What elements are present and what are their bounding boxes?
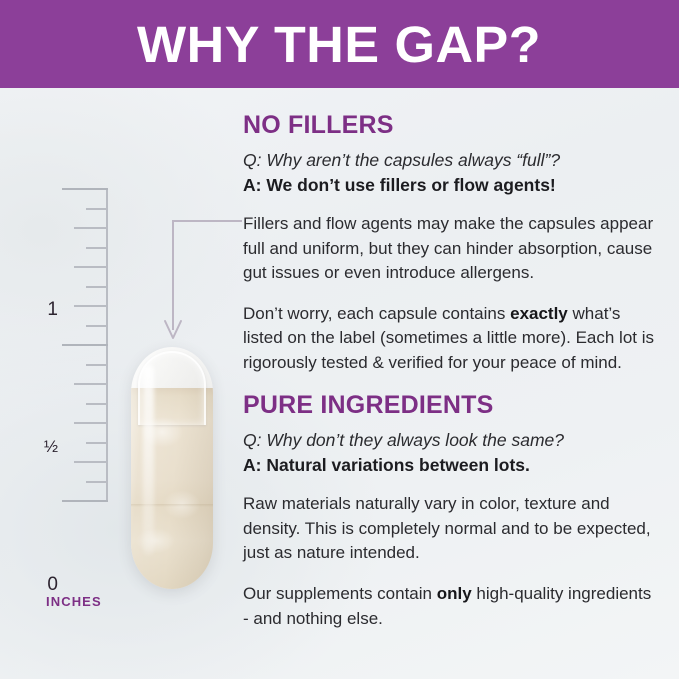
capsule-shell — [131, 347, 213, 589]
paragraph-text: Fillers and flow agents may make the cap… — [243, 214, 653, 282]
ruler-tick — [86, 286, 108, 288]
ruler-unit-label: INCHES — [46, 594, 102, 609]
capsule-illustration-panel: 1 ½ 0 INCHES — [0, 88, 238, 679]
paragraph-text: Our supplements contain — [243, 584, 437, 603]
ruler-label-zero: 0 — [18, 575, 58, 594]
ruler-tick — [86, 325, 108, 327]
page-title: WHY THE GAP? — [137, 19, 541, 70]
paragraph-text: Raw materials naturally vary in color, t… — [243, 494, 651, 562]
ruler-tick — [62, 344, 108, 346]
section-heading: PURE INGREDIENTS — [243, 392, 657, 420]
ruler-tick — [74, 305, 108, 307]
ruler-tick — [74, 227, 108, 229]
body-paragraph: Our supplements contain only high-qualit… — [243, 582, 657, 631]
ruler-tick — [74, 266, 108, 268]
emphasis-text: only — [437, 584, 472, 603]
callout-arrow-icon — [162, 214, 244, 346]
emphasis-text: exactly — [510, 304, 568, 323]
capsule-image — [131, 347, 213, 589]
ruler-tick — [86, 403, 108, 405]
ruler-tick — [86, 208, 108, 210]
ruler-tick — [74, 422, 108, 424]
faq-question: Q: Why don’t they always look the same? — [243, 429, 657, 451]
paragraph-text: Don’t worry, each capsule contains — [243, 304, 510, 323]
faq-question: Q: Why aren’t the capsules always “full”… — [243, 149, 657, 171]
ruler-tick — [86, 247, 108, 249]
ruler-label-one: 1 — [18, 300, 58, 319]
inch-ruler — [62, 188, 108, 500]
ruler-tick — [86, 364, 108, 366]
copy-section: PURE INGREDIENTSQ: Why don’t they always… — [243, 392, 657, 631]
ruler-tick — [74, 461, 108, 463]
faq-answer: A: We don’t use fillers or flow agents! — [243, 174, 657, 196]
section-heading: NO FILLERS — [243, 112, 657, 140]
copy-section: NO FILLERSQ: Why aren’t the capsules alw… — [243, 112, 657, 375]
ruler-tick — [86, 442, 108, 444]
faq-answer: A: Natural variations between lots. — [243, 454, 657, 476]
copy-column: NO FILLERSQ: Why aren’t the capsules alw… — [243, 112, 657, 648]
ruler-tick — [62, 500, 108, 502]
ruler-tick — [74, 383, 108, 385]
ruler-label-half: ½ — [18, 438, 58, 455]
body-paragraph: Don’t worry, each capsule contains exact… — [243, 302, 657, 375]
capsule-highlight — [143, 365, 154, 555]
ruler-tick — [86, 481, 108, 483]
body-paragraph: Fillers and flow agents may make the cap… — [243, 212, 657, 285]
body-paragraph: Raw materials naturally vary in color, t… — [243, 492, 657, 565]
header-banner: WHY THE GAP? — [0, 0, 679, 88]
infographic-page: WHY THE GAP? 1 ½ 0 INCHES NO FILLERSQ: W… — [0, 0, 679, 679]
ruler-tick — [62, 188, 108, 190]
